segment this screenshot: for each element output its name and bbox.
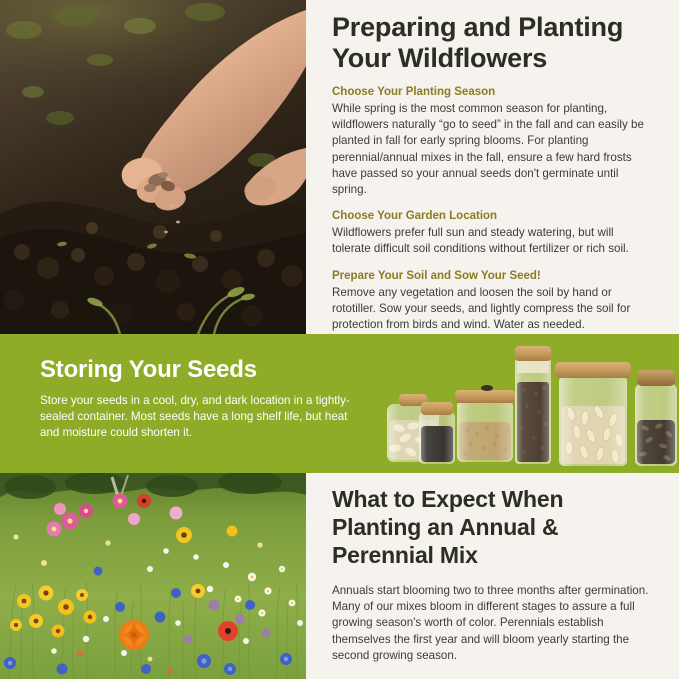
section-preparing-and-planting: Preparing and Planting Your Wildflowers … bbox=[0, 0, 679, 334]
body-planting-season: While spring is the most common season f… bbox=[332, 101, 655, 198]
orange-poppy bbox=[119, 620, 149, 650]
glass-jars-illustration bbox=[379, 334, 679, 473]
subhead-prepare-soil: Prepare Your Soil and Sow Your Seed! bbox=[332, 269, 655, 284]
section-storing-your-seeds: Storing Your Seeds Store your seeds in a… bbox=[0, 334, 679, 473]
expect-copy-panel: What to Expect When Planting an Annual &… bbox=[306, 473, 679, 679]
jar-black-seeds bbox=[419, 402, 455, 464]
subhead-planting-season: Choose Your Planting Season bbox=[332, 85, 655, 100]
jar-tall-dark-seeds bbox=[515, 346, 551, 464]
body-prepare-soil: Remove any vegetation and loosen the soi… bbox=[332, 285, 655, 334]
jar-sunflower-seeds bbox=[635, 370, 677, 466]
storing-copy-panel: Storing Your Seeds Store your seeds in a… bbox=[40, 356, 350, 442]
seed-jars-photo bbox=[379, 334, 679, 473]
expect-body: Annuals start blooming two to three mont… bbox=[332, 583, 655, 664]
hand-sowing-seeds-illustration bbox=[0, 0, 306, 334]
storing-body: Store your seeds in a cool, dry, and dar… bbox=[40, 393, 350, 442]
soil-sowing-photo bbox=[0, 0, 306, 334]
infographic-page: Preparing and Planting Your Wildflowers … bbox=[0, 0, 679, 679]
jar-tan-seeds bbox=[455, 385, 515, 462]
expect-title: What to Expect When Planting an Annual &… bbox=[332, 485, 655, 569]
subhead-garden-location: Choose Your Garden Location bbox=[332, 209, 655, 224]
jar-pumpkin-seeds bbox=[555, 362, 631, 466]
wildflower-meadow-illustration bbox=[0, 473, 306, 679]
storing-title: Storing Your Seeds bbox=[40, 356, 350, 383]
wildflower-meadow-photo bbox=[0, 473, 306, 679]
section-what-to-expect: What to Expect When Planting an Annual &… bbox=[0, 473, 679, 679]
body-garden-location: Wildflowers prefer full sun and steady w… bbox=[332, 225, 655, 257]
planting-copy-panel: Preparing and Planting Your Wildflowers … bbox=[306, 0, 679, 334]
page-title: Preparing and Planting Your Wildflowers bbox=[332, 12, 655, 74]
